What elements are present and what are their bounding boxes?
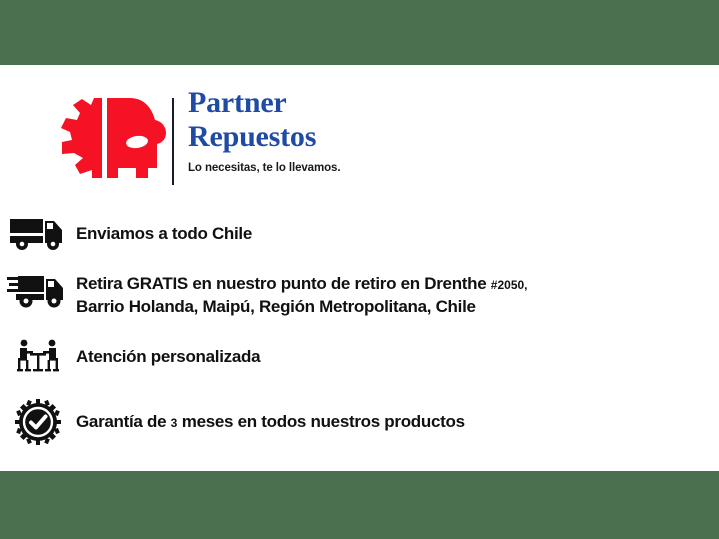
bottom-green-band [0, 471, 719, 539]
brand-tagline: Lo necesitas, te lo llevamos. [188, 162, 608, 174]
brand-text-block: Partner Repuestos Lo necesitas, te lo ll… [188, 88, 608, 174]
feature-row-warranty: Garantía de 3 meses en todos nuestros pr… [0, 398, 719, 446]
brand-logo-block: Partner Repuestos Lo necesitas, te lo ll… [0, 88, 719, 192]
people-at-table-icon [0, 339, 76, 375]
pickup-line-1: Retira GRATIS en nuestro punto de retiro… [76, 273, 528, 296]
feature-label-shipping: Enviamos a todo Chile [76, 223, 252, 245]
feature-row-support: Atención personalizada [0, 337, 719, 377]
pickup-line-2: Barrio Holanda, Maipú, Región Metropolit… [76, 296, 528, 318]
gear-car-logo-icon [58, 94, 170, 182]
promo-banner: Partner Repuestos Lo necesitas, te lo ll… [0, 0, 719, 539]
pickup-street-number: #2050, [491, 278, 528, 292]
guarantee-badge-check-icon [0, 399, 76, 445]
feature-label-support: Atención personalizada [76, 346, 260, 368]
feature-row-pickup: Retira GRATIS en nuestro punto de retiro… [0, 272, 719, 324]
delivery-truck-icon [0, 217, 76, 251]
feature-label-warranty: Garantía de 3 meses en todos nuestros pr… [76, 411, 465, 434]
brand-name-line-2: Repuestos [188, 122, 608, 152]
feature-row-shipping: Enviamos a todo Chile [0, 214, 719, 254]
top-green-band [0, 0, 719, 65]
logo-divider [172, 98, 174, 185]
warranty-text-before: Garantía de [76, 412, 171, 431]
brand-name-line-1: Partner [188, 88, 608, 118]
feature-label-pickup: Retira GRATIS en nuestro punto de retiro… [76, 272, 528, 318]
warranty-text-after: meses en todos nuestros productos [177, 412, 464, 431]
pickup-line-1-text: Retira GRATIS en nuestro punto de retiro… [76, 274, 491, 293]
fast-truck-icon [0, 272, 76, 310]
